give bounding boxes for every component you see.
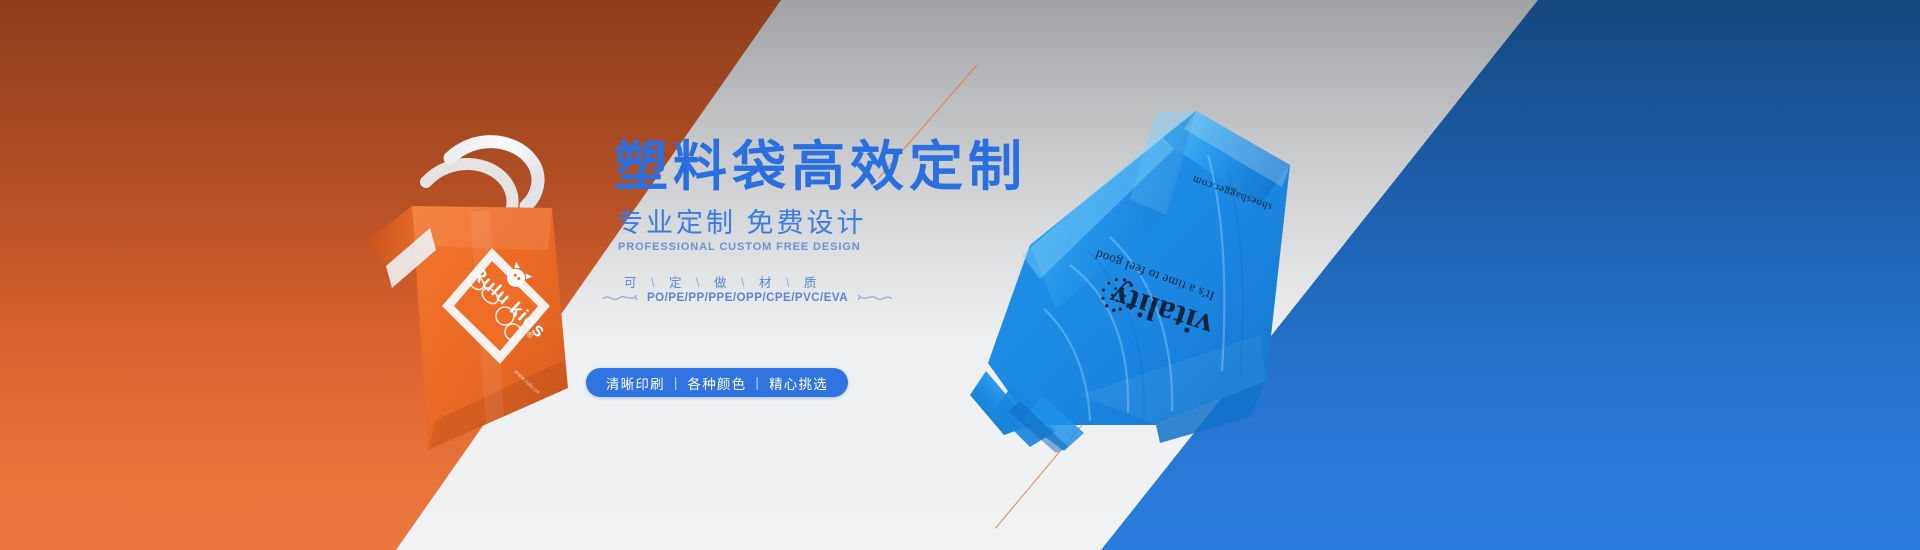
features-pill-button[interactable]: 清晰印刷 | 各种颜色 | 精心挑选 xyxy=(586,368,848,397)
material-char-1: 可 xyxy=(618,276,644,290)
pill-feature-2: 各种颜色 xyxy=(688,373,747,393)
orange-tote-bag-product-image: Rulu kids ® www.rulu.cn xyxy=(300,120,600,460)
material-char-3: 做 xyxy=(708,276,734,290)
material-char-5: 质 xyxy=(798,276,824,290)
pill-feature-1: 清晰印刷 xyxy=(606,373,665,393)
material-char-4: 材 xyxy=(753,276,779,290)
material-codes-text: PO/PE/PP/PPE/OPP/CPE/PVC/EVA xyxy=(647,292,848,304)
material-char-2: 定 xyxy=(663,276,689,290)
material-slash-4: \ xyxy=(783,276,793,290)
pill-feature-3: 精心挑选 xyxy=(769,373,828,393)
squiggle-right-icon xyxy=(857,292,893,304)
banner-copy-block: 塑料袋高效定制 专业定制 免费设计 PROFESSIONAL CUSTOM FR… xyxy=(586,0,1106,550)
squiggle-left-icon xyxy=(602,292,638,304)
material-label-row: 可 \ 定 \ 做 \ 材 \ 质 xyxy=(618,272,823,291)
banner-subheadline-english: PROFESSIONAL CUSTOM FREE DESIGN xyxy=(618,241,861,253)
material-slash-2: \ xyxy=(693,276,703,290)
material-slash-3: \ xyxy=(738,276,748,290)
banner-headline: 塑料袋高效定制 xyxy=(614,140,1027,194)
banner-subheadline: 专业定制 免费设计 xyxy=(616,210,867,237)
material-codes-row: PO/PE/PP/PPE/OPP/CPE/PVC/EVA xyxy=(602,292,893,304)
promo-banner: Rulu kids ® www.rulu.cn xyxy=(0,0,1920,550)
material-slash-1: \ xyxy=(648,276,658,290)
pill-separator-1: | xyxy=(665,375,688,390)
pill-separator-2: | xyxy=(746,375,769,390)
